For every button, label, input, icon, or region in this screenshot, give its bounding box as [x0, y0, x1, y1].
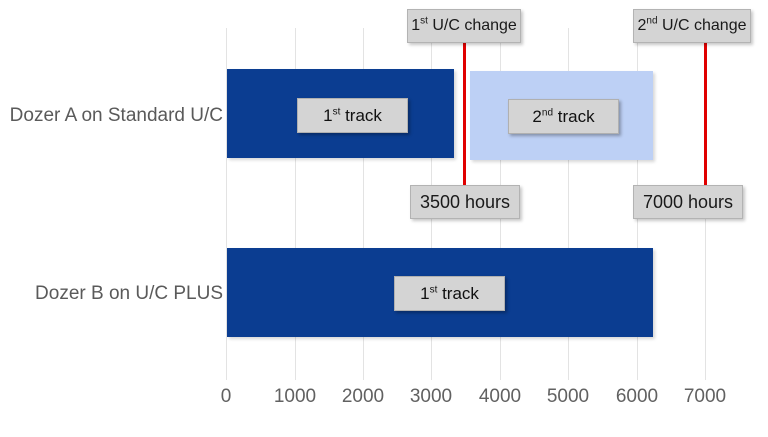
track-label-dozer-a-first: 1st track	[297, 98, 408, 133]
track-label-dozer-a-first-text: 1st track	[323, 106, 382, 126]
callout-1st-uc-change-text: 1st U/C change	[411, 17, 517, 35]
callout-2nd-uc-change-text: 2nd U/C change	[638, 17, 747, 35]
callout-7000-hours: 7000 hours	[633, 185, 743, 219]
track-a-second-body: track	[553, 107, 595, 126]
track-b-first-ordinal: 1	[420, 284, 429, 303]
category-label-dozer-b: Dozer B on U/C PLUS	[35, 283, 223, 305]
track-b-first-body: track	[437, 284, 479, 303]
track-label-dozer-b-first-text: 1st track	[420, 284, 479, 304]
track-label-dozer-a-second: 2nd track	[508, 99, 619, 134]
marker-line-7000-hours	[704, 43, 707, 185]
track-a-second-ordinal: 2	[532, 107, 541, 126]
callout-1st-ordinal: 1	[411, 17, 420, 34]
track-a-first-body: track	[340, 106, 382, 125]
callout-1st-body: U/C change	[428, 17, 517, 34]
x-tick-label-7000: 7000	[665, 386, 745, 408]
callout-3500-hours-text: 3500 hours	[420, 192, 510, 213]
chart-container: Dozer A on Standard U/C Dozer B on U/C P…	[0, 0, 768, 437]
track-a-first-ordinal: 1	[323, 106, 332, 125]
track-label-dozer-a-second-text: 2nd track	[532, 107, 594, 127]
x-tick-label-5000: 5000	[528, 386, 608, 408]
callout-1st-suffix: st	[420, 16, 428, 27]
callout-2nd-suffix: nd	[646, 16, 657, 27]
x-tick-label-3000: 3000	[391, 386, 471, 408]
track-label-dozer-b-first: 1st track	[394, 276, 505, 311]
callout-2nd-body: U/C change	[658, 17, 747, 34]
x-tick-label-0: 0	[186, 386, 266, 408]
callout-3500-hours: 3500 hours	[410, 185, 520, 219]
callout-1st-uc-change: 1st U/C change	[407, 9, 521, 43]
category-label-dozer-a: Dozer A on Standard U/C	[10, 105, 223, 127]
callout-2nd-uc-change: 2nd U/C change	[633, 9, 751, 43]
track-a-second-suffix: nd	[542, 107, 553, 118]
callout-7000-hours-text: 7000 hours	[643, 192, 733, 213]
marker-line-3500-hours	[463, 43, 466, 185]
